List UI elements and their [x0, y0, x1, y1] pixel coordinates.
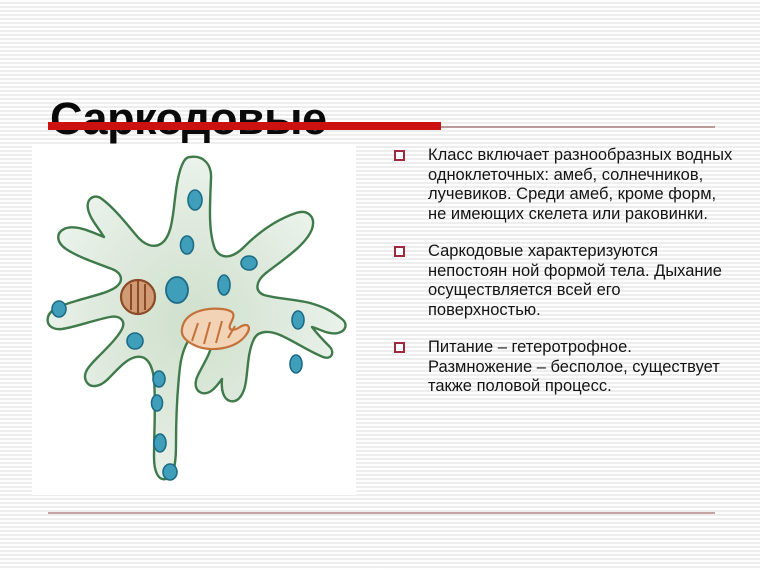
vacuole-icon — [52, 301, 66, 317]
vacuole-icon — [241, 256, 257, 270]
amoeba-figure-svg — [32, 145, 356, 495]
vacuole-icon — [163, 464, 177, 480]
amoeba-illustration — [32, 145, 356, 495]
slide-canvas: Саркодовые — [0, 0, 760, 570]
vacuole-icon — [166, 277, 188, 303]
bullet-text: Питание – гетеротрофное. Размножение – б… — [428, 338, 734, 397]
list-item: Класс включает разнообразных водных одно… — [394, 146, 734, 224]
vacuole-icon — [181, 236, 194, 254]
vacuole-icon — [292, 311, 304, 329]
footer-divider — [48, 512, 715, 514]
vacuole-icon — [127, 333, 143, 349]
nucleus — [121, 280, 155, 314]
list-item: Питание – гетеротрофное. Размножение – б… — [394, 338, 734, 397]
title-divider-accent-bar — [48, 122, 441, 130]
square-bullet-icon — [394, 246, 405, 257]
square-bullet-icon — [394, 150, 405, 161]
vacuole-icon — [290, 355, 302, 373]
bullet-text: Саркодовые характеризуются непостоян ной… — [428, 242, 734, 320]
vacuole-icon — [218, 275, 230, 295]
page-title: Саркодовые — [50, 94, 327, 144]
vacuole-icon — [153, 371, 165, 387]
vacuole-icon — [188, 190, 202, 210]
bullet-text: Класс включает разнообразных водных одно… — [428, 146, 734, 224]
vacuole-icon — [154, 434, 166, 452]
bullet-list: Класс включает разнообразных водных одно… — [394, 146, 734, 415]
vacuole-icon — [152, 395, 163, 411]
list-item: Саркодовые характеризуются непостоян ной… — [394, 242, 734, 320]
square-bullet-icon — [394, 342, 405, 353]
